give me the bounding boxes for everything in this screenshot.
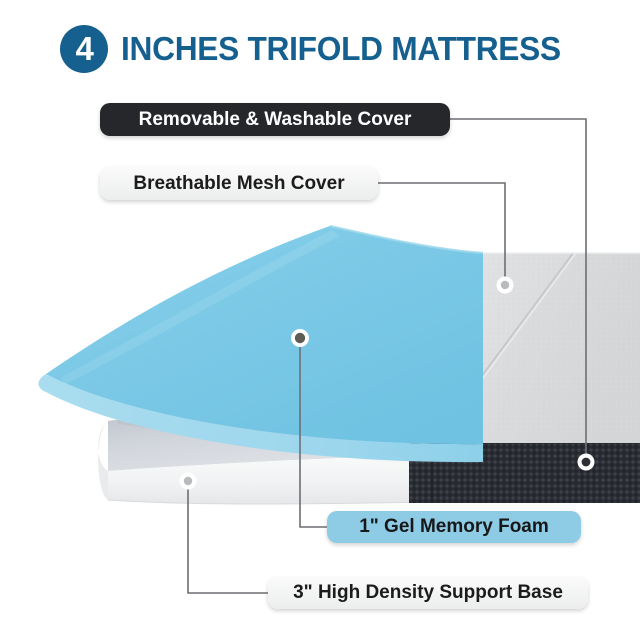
marker-removable-cover-ring [578, 454, 595, 471]
cover-fold-seam [432, 253, 573, 443]
mesh-side-band [409, 441, 640, 503]
cover-panel-right [432, 253, 640, 443]
page-title: INCHES TRIFOLD MATTRESS [121, 30, 561, 68]
callout-removable-washable-cover[interactable]: Removable & Washable Cover [100, 103, 450, 136]
marker-support-base-ring [180, 473, 197, 490]
marker-breathable-cover-ring [497, 277, 514, 294]
inches-badge: 4 [60, 25, 108, 73]
base-top-face [108, 389, 640, 471]
connector-base [188, 488, 272, 593]
cover-panel-left [409, 253, 640, 443]
foam-top-face [46, 226, 483, 444]
connector-breathable [378, 183, 505, 278]
connector-removable [450, 119, 586, 455]
white-base-layer [98, 389, 640, 504]
marker-breathable-cover-dot [501, 281, 509, 289]
marker-support-base-dot [184, 477, 192, 485]
base-bottom-edge [108, 500, 640, 504]
marker-removable-cover-dot [582, 458, 591, 467]
callout-breathable-mesh-cover[interactable]: Breathable Mesh Cover [100, 167, 378, 200]
connector-gel [300, 345, 330, 527]
foam-drop-shadow [118, 404, 470, 470]
marker-gel-memory-foam-ring [291, 329, 309, 347]
header: 4 INCHES TRIFOLD MATTRESS [0, 18, 640, 80]
trifold-mattress-infographic: 4 INCHES TRIFOLD MATTRESS [0, 0, 640, 640]
connector-markers [180, 277, 595, 490]
foam-edge-face [46, 374, 483, 462]
mattress-illustration [0, 0, 640, 640]
callout-high-density-support-base[interactable]: 3" High Density Support Base [268, 577, 588, 609]
outer-cover-panels [409, 253, 640, 443]
marker-gel-memory-foam-dot [295, 333, 305, 343]
blue-foam-layer [39, 226, 484, 462]
callout-gel-memory-foam[interactable]: 1" Gel Memory Foam [327, 511, 581, 543]
base-left-cap [98, 421, 108, 500]
base-front-face [108, 452, 640, 504]
